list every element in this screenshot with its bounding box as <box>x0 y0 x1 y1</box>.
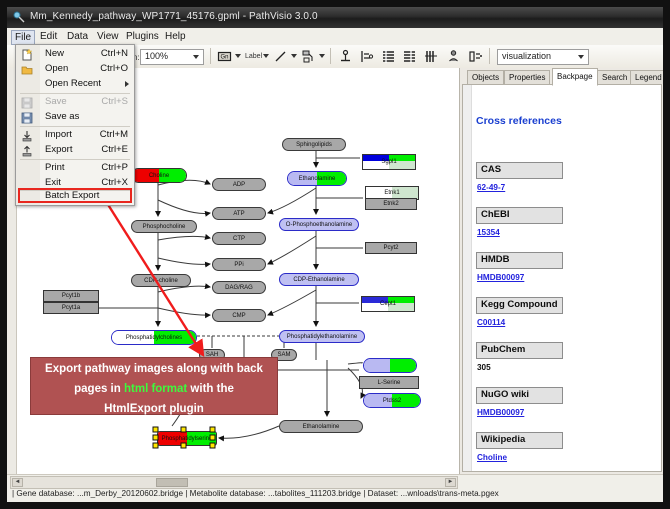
xref-link-kegg[interactable]: C00114 <box>477 318 505 327</box>
file-menu-shortcut: Ctrl+O <box>100 63 128 74</box>
file-menu-item-open-recent[interactable]: Open Recent <box>16 77 134 92</box>
cross-references-heading: Cross references <box>476 115 562 127</box>
annotation-text-2b: with the <box>187 383 234 395</box>
toolbar-separator <box>330 48 331 64</box>
file-menu-label: Exit <box>45 177 61 188</box>
pathway-node-ppi[interactable]: PPi <box>212 258 266 271</box>
node-label: Sgpl1 <box>363 155 415 169</box>
chevron-down-icon <box>578 55 584 59</box>
node-label: Ethanolamine <box>288 172 346 185</box>
pathway-node-pcyt1a[interactable]: Pcyt1a <box>43 302 99 314</box>
file-menu-item-print[interactable]: Print Ctrl+P <box>16 161 134 176</box>
scrollbar-thumb[interactable] <box>156 478 188 487</box>
node-label: Cept1 <box>362 297 414 311</box>
menu-file[interactable]: File <box>11 30 35 45</box>
pathway-node-adp[interactable]: ADP <box>212 178 266 191</box>
menu-help[interactable]: Help <box>162 30 189 43</box>
pathway-node-pcyt1b[interactable]: Pcyt1b <box>43 290 99 302</box>
chevron-right-icon <box>125 81 129 87</box>
annotation-line-1: Export pathway images along with back <box>31 358 277 378</box>
pathway-node-cept1[interactable]: Cept1 <box>361 296 415 312</box>
chevron-down-icon <box>193 55 199 59</box>
gene-product-icon[interactable]: Gn <box>217 49 232 64</box>
menu-view[interactable]: View <box>94 30 122 43</box>
xref-value-pubchem: 305 <box>477 363 491 372</box>
file-menu-shortcut: Ctrl+X <box>101 177 128 188</box>
new-document-icon <box>21 49 33 61</box>
save-as-icon <box>21 112 33 124</box>
file-menu-label: Import <box>45 129 72 140</box>
zoom-combo[interactable]: 100% <box>140 49 204 65</box>
visualization-combo[interactable]: visualization <box>497 49 589 65</box>
pathway-node-choline-top[interactable]: Choline <box>131 168 187 183</box>
xref-db-label: ChEBI <box>481 209 510 220</box>
menu-edit[interactable]: Edit <box>37 30 60 43</box>
visualization-value: visualization <box>502 51 551 61</box>
annotation-line-2: pages in html format with the <box>31 378 277 398</box>
pathway-node-sphingolipids[interactable]: Sphingolipids <box>282 138 346 151</box>
chevron-down-icon[interactable] <box>291 54 297 58</box>
annotation-highlight: html format <box>124 383 187 395</box>
status-text: | Gene database: ...m_Derby_20120602.bri… <box>12 489 499 498</box>
xref-db-label: NuGO wiki <box>481 389 529 400</box>
sidebar-tab-strip: Objects Properties Backpage Search Legen… <box>460 68 663 84</box>
tab-backpage[interactable]: Backpage <box>552 68 598 86</box>
export-icon <box>21 145 33 157</box>
xref-box-cas: CAS <box>476 162 563 179</box>
backpage-gutter <box>463 85 472 471</box>
annotation-text-3: HtmlExport plugin <box>104 403 204 415</box>
file-menu-item-save[interactable]: Save Ctrl+S <box>16 95 134 110</box>
xref-box-pubchem: PubChem <box>476 342 563 359</box>
file-menu-shortcut: Ctrl+M <box>100 129 128 140</box>
status-bar: ◄ ► | Gene database: ...m_Derby_20120602… <box>7 474 663 502</box>
node-label: Phosphatidylcholines <box>112 331 196 344</box>
file-menu-dropdown[interactable]: New Ctrl+N Open Ctrl+O Open Recent <box>15 44 135 206</box>
selection-handles[interactable] <box>151 425 223 451</box>
menu-data[interactable]: Data <box>64 30 91 43</box>
pathway-node-ctp[interactable]: CTP <box>212 232 266 245</box>
layout-icon[interactable] <box>468 49 483 64</box>
application-window: Mm_Kennedy_pathway_WP1771_45176.gpml - P… <box>7 7 663 502</box>
window-title: Mm_Kennedy_pathway_WP1771_45176.gpml - P… <box>30 11 318 22</box>
toolbar-separator <box>210 48 211 64</box>
tab-objects[interactable]: Objects <box>467 70 504 84</box>
scroll-right-button[interactable]: ► <box>445 478 456 487</box>
annotation-line-3: HtmlExport plugin <box>31 398 277 418</box>
pathway-node-l-serine[interactable] <box>363 358 417 373</box>
pathway-node-sgpl1[interactable]: Sgpl1 <box>362 154 416 170</box>
annotation-text-1: Export pathway images along with back <box>45 363 263 375</box>
line-icon[interactable] <box>273 49 288 64</box>
backpage-panel: Cross references CAS 62-49-7 ChEBI 15354… <box>462 84 662 472</box>
xref-box-wikipedia: Wikipedia <box>476 432 563 449</box>
pathway-node-phosphocholine[interactable]: Phosphocholine <box>131 220 197 233</box>
file-menu-item-import[interactable]: Import Ctrl+M <box>16 128 134 143</box>
menu-plugins[interactable]: Plugins <box>123 30 162 43</box>
open-folder-icon <box>21 64 33 76</box>
node-label: Ptdss2 <box>364 394 420 407</box>
horizontal-scrollbar[interactable]: ◄ ► <box>10 476 458 489</box>
pathway-node-atp[interactable]: ATP <box>212 207 266 220</box>
save-disk-icon <box>21 97 33 109</box>
tab-search[interactable]: Search <box>597 70 632 84</box>
pathway-node-dag-rag[interactable]: DAG/RAG <box>212 281 266 294</box>
side-panel: Objects Properties Backpage Search Legen… <box>460 68 663 474</box>
import-icon <box>21 130 33 142</box>
interaction-icon[interactable] <box>301 49 316 64</box>
pathway-node-etnk2[interactable]: Etnk2 <box>365 198 417 210</box>
file-menu-shortcut: Ctrl+S <box>101 96 128 107</box>
file-menu-label: Save <box>45 96 67 107</box>
toolbar-separator <box>489 48 490 64</box>
pathway-node-cmp[interactable]: CMP <box>212 309 266 322</box>
xref-link-chebi[interactable]: 15354 <box>477 228 500 237</box>
pathway-node-ethanolamine-1[interactable]: Ethanolamine <box>287 171 347 186</box>
file-menu-label: Open <box>45 63 68 74</box>
xref-db-label: Wikipedia <box>481 434 525 445</box>
file-menu-separator <box>20 93 130 94</box>
file-menu-item-save-as[interactable]: Save as <box>16 110 134 125</box>
file-menu-label: Print <box>45 162 65 173</box>
title-bar: Mm_Kennedy_pathway_WP1771_45176.gpml - P… <box>7 7 663 29</box>
tab-legend[interactable]: Legend <box>630 70 663 84</box>
xref-box-chebi: ChEBI <box>476 207 563 224</box>
pathway-node-phosphatidylserine[interactable]: Ethanolamine <box>279 420 363 433</box>
file-menu-item-open[interactable]: Open Ctrl+O <box>16 62 134 77</box>
align-rows-icon[interactable] <box>381 49 396 64</box>
chevron-down-icon[interactable] <box>235 54 241 58</box>
xref-box-hmdb: HMDB <box>476 252 563 269</box>
file-menu-label: Open Recent <box>45 78 101 89</box>
stack-icon[interactable] <box>424 49 439 64</box>
chevron-down-icon[interactable] <box>263 54 269 58</box>
zoom-value: 100% <box>145 51 168 61</box>
xref-db-label: CAS <box>481 164 501 175</box>
chevron-down-icon[interactable] <box>319 54 325 58</box>
xref-box-kegg: Kegg Compound <box>476 297 563 314</box>
file-menu-separator <box>20 159 130 160</box>
pathway-node-cdp-choline[interactable]: CDP-choline <box>131 274 191 287</box>
file-menu-item-new[interactable]: New Ctrl+N <box>16 47 134 62</box>
align-columns-icon[interactable] <box>402 49 417 64</box>
node-label <box>364 359 416 372</box>
file-menu-shortcut: Ctrl+E <box>101 144 128 155</box>
xref-link-hmdb[interactable]: HMDB00097 <box>477 273 524 282</box>
file-menu-label: New <box>45 48 64 59</box>
node-label: Choline <box>132 169 186 182</box>
pathway-node-cdp-ethanolamine[interactable]: CDP-Ethanolamine <box>279 273 359 286</box>
file-menu-label: Save as <box>45 111 79 122</box>
annotation-callout: Export pathway images along with back pa… <box>30 357 278 415</box>
pathway-node-pcyt2[interactable]: Pcyt2 <box>365 242 417 254</box>
align-left-icon[interactable] <box>359 49 374 64</box>
pathvisio-app-icon <box>13 11 26 24</box>
pathway-node-ptdss2[interactable]: L-Serine <box>359 376 419 389</box>
tab-properties[interactable]: Properties <box>504 70 550 84</box>
file-menu-item-export[interactable]: Export Ctrl+E <box>16 143 134 158</box>
file-menu-separator <box>20 126 130 127</box>
xref-db-label: HMDB <box>481 254 510 265</box>
file-menu-shortcut: Ctrl+N <box>101 48 128 59</box>
pathway-node-ethanolamine-2[interactable]: Ptdss2 <box>363 393 421 408</box>
annotation-text-2a: pages in <box>74 383 124 395</box>
xref-db-label: PubChem <box>481 344 525 355</box>
xref-box-nugo: NuGO wiki <box>476 387 563 404</box>
backpage-content: Cross references CAS 62-49-7 ChEBI 15354… <box>472 85 660 471</box>
batch-export-highlight <box>18 188 132 203</box>
svg-text:Gn: Gn <box>220 55 228 61</box>
label-tool-label[interactable]: Label <box>245 53 262 60</box>
file-menu-shortcut: Ctrl+P <box>101 162 128 173</box>
xref-link-nugo[interactable]: HMDB00097 <box>477 408 524 417</box>
file-menu-label: Export <box>45 144 72 155</box>
pathway-node-o-phosphoethanolamine[interactable]: O-Phosphoethanolamine <box>279 218 359 231</box>
xref-link-cas[interactable]: 62-49-7 <box>477 183 505 192</box>
scroll-left-button[interactable]: ◄ <box>12 478 23 487</box>
pathway-node-phosphatidylcholines[interactable]: Phosphatidylcholines <box>111 330 197 345</box>
group-icon[interactable] <box>446 49 461 64</box>
anchor-icon[interactable] <box>338 49 353 64</box>
pathway-node-phosphatidylethanolamine[interactable]: Phosphatidylethanolamine <box>279 330 365 343</box>
xref-db-label: Kegg Compound <box>481 299 558 310</box>
xref-link-wikipedia[interactable]: Choline <box>477 453 507 462</box>
